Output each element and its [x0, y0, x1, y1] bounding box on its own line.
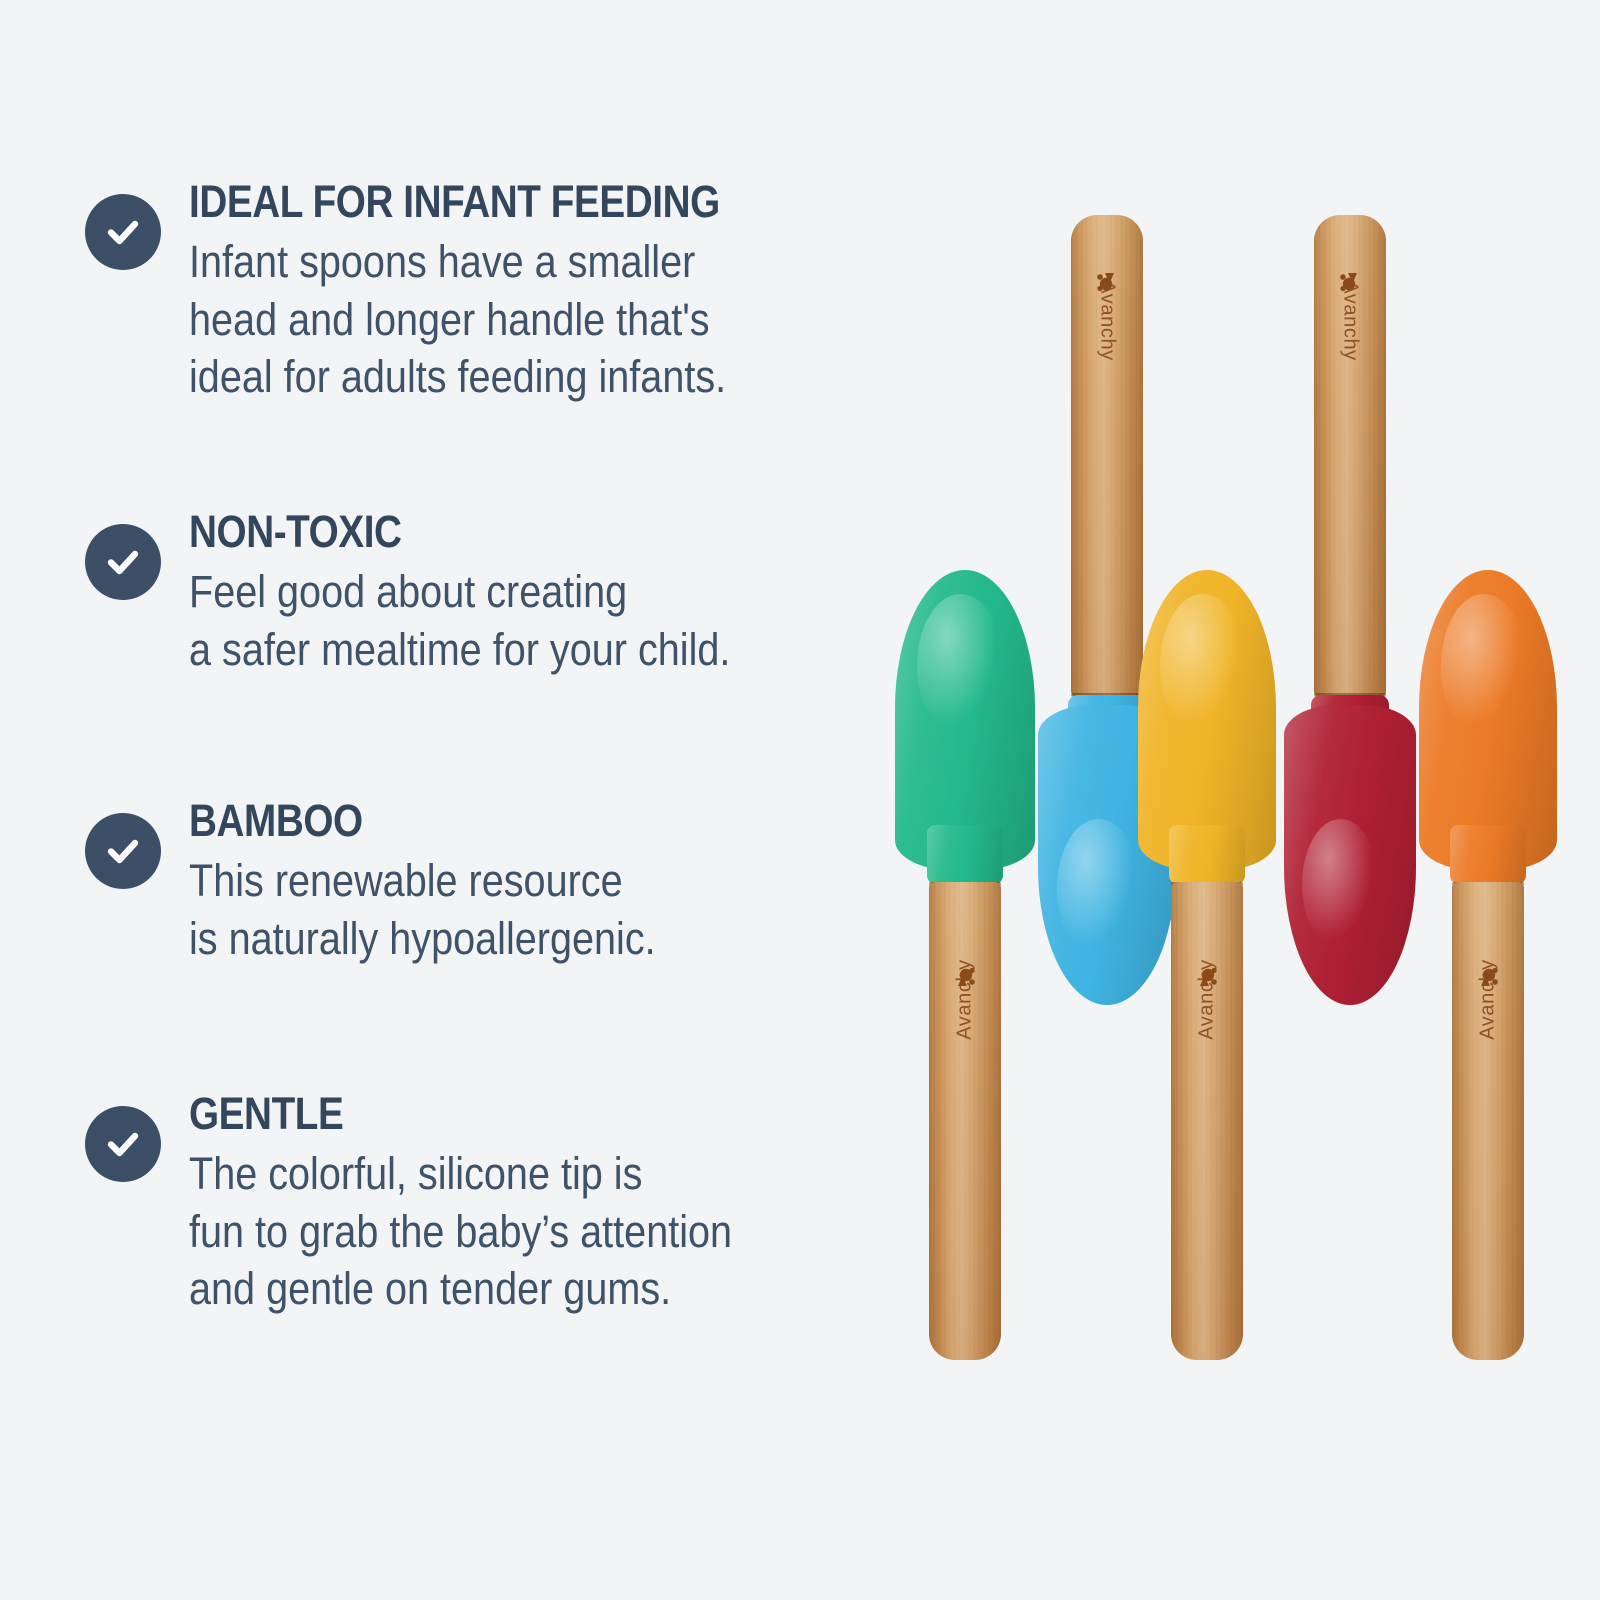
brand-logo-mark — [950, 962, 980, 992]
orange-spoon-collar — [1450, 825, 1526, 885]
feature-body: Feel good about creating a safer mealtim… — [189, 563, 793, 678]
feature-title: NON-TOXIC — [189, 508, 779, 555]
feature-list: IDEAL FOR INFANT FEEDING Infant spoons h… — [85, 178, 875, 1370]
brand-logo-mark — [1335, 267, 1365, 297]
orange-spoon: Avanchy — [1393, 570, 1583, 1360]
feature-body: This renewable resource is naturally hyp… — [189, 852, 793, 967]
feature-body: Infant spoons have a smaller head and lo… — [189, 233, 793, 406]
check-circle-icon — [85, 813, 161, 889]
feature-item-gentle: GENTLE The colorful, silicone tip is fun… — [85, 1090, 875, 1370]
brand-logo-mark — [1192, 962, 1222, 992]
check-circle-icon — [85, 1106, 161, 1182]
brand-logo-text: Avanchy — [954, 940, 977, 1060]
brand-logo-mark — [1092, 267, 1122, 297]
brand-logo-text: Avanchy — [1477, 940, 1500, 1060]
feature-title: GENTLE — [189, 1090, 779, 1137]
product-image-bamboo-infant-spoons: Avanchy Avanchy — [840, 0, 1600, 1600]
feature-title: BAMBOO — [189, 797, 779, 844]
check-circle-icon — [85, 194, 161, 270]
brand-logo-text: Avanchy — [1196, 940, 1219, 1060]
yellow-spoon-collar — [1169, 825, 1245, 885]
feature-body: The colorful, silicone tip is fun to gra… — [189, 1145, 793, 1318]
feature-item-ideal-for-infant-feeding: IDEAL FOR INFANT FEEDING Infant spoons h… — [85, 178, 875, 508]
feature-item-bamboo: BAMBOO This renewable resource is natura… — [85, 797, 875, 1090]
check-circle-icon — [85, 524, 161, 600]
brand-logo-mark — [1473, 962, 1503, 992]
green-spoon-collar — [927, 825, 1003, 885]
feature-title: IDEAL FOR INFANT FEEDING — [189, 178, 779, 225]
feature-item-non-toxic: NON-TOXIC Feel good about creating a saf… — [85, 508, 875, 797]
